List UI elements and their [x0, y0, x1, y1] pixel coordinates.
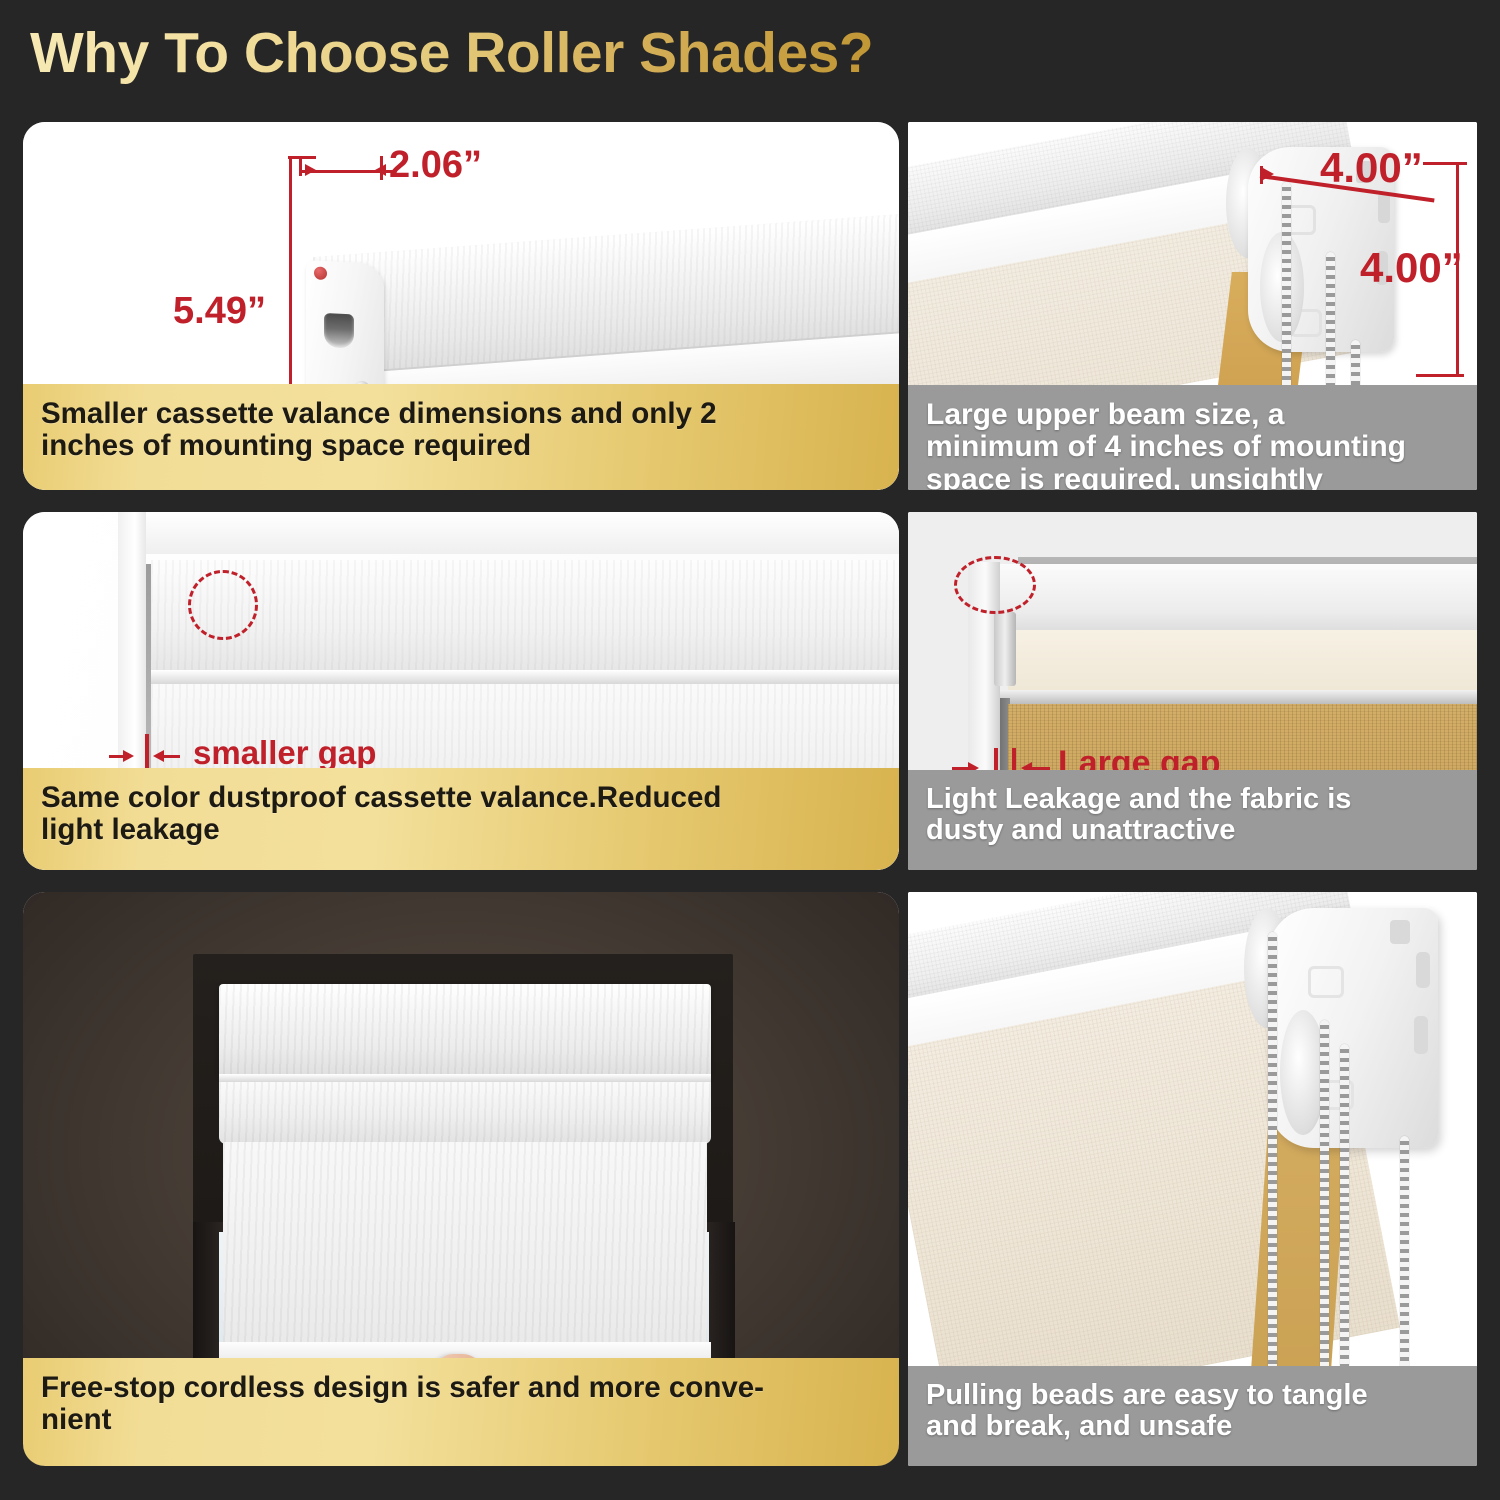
- caption-con-large-gap: Light Leakage and the fabric is dusty an…: [908, 770, 1477, 870]
- panel-pro-cassette-dimensions: 2.06” 5.49” Smaller cassette valance dim…: [23, 122, 899, 490]
- dim-arrow-right: [305, 164, 316, 176]
- dim-cap-bottom: [1416, 374, 1464, 377]
- highlight-circle: [188, 570, 258, 640]
- dim-tick-right-top: [380, 156, 383, 180]
- caption-con-large-upper-beam: Large upper beam size, a minimum of 4 in…: [908, 385, 1477, 490]
- caption-pro-cassette-dimensions: Smaller cassette valance dimensions and …: [23, 384, 899, 490]
- dim-cap-top: [1423, 162, 1467, 165]
- caption-con-pull-beads: Pulling beads are easy to tangle and bre…: [908, 1366, 1477, 1466]
- infographic-page: Why To Choose Roller Shades? 2.06”: [0, 0, 1500, 1500]
- highlight-circle: [954, 556, 1036, 614]
- dimension-label-height: 5.49”: [173, 290, 266, 333]
- panel-pro-smaller-gap: smaller gap Same color dustproof cassett…: [23, 512, 899, 870]
- panel-con-large-gap: Large gap Light Leakage and the fabric i…: [908, 512, 1477, 870]
- dimension-label-height: 4.00”: [1360, 244, 1463, 292]
- bead-chain: [1320, 1020, 1329, 1422]
- page-title: Why To Choose Roller Shades?: [30, 20, 873, 86]
- dim-cap-top: [288, 156, 316, 159]
- dim-arrow-right: [1263, 168, 1274, 180]
- caption-pro-cordless: Free-stop cordless design is safer and m…: [23, 1358, 899, 1466]
- gap-arrow-stem: [109, 755, 125, 758]
- panel-con-pull-beads: Pulling beads are easy to tangle and bre…: [908, 892, 1477, 1466]
- dimension-label-width: 2.06”: [389, 144, 482, 187]
- panel-con-large-upper-beam: 4.00” 4.00” Large upper beam size, a min…: [908, 122, 1477, 490]
- dim-tick-left-top: [299, 156, 302, 176]
- bead-chain: [1268, 932, 1277, 1422]
- gap-arrow-stem: [164, 755, 180, 758]
- panel-pro-cordless: Free-stop cordless design is safer and m…: [23, 892, 899, 1466]
- caption-pro-smaller-gap: Same color dustproof cassette valance.Re…: [23, 768, 899, 870]
- gap-arrow-left: [153, 750, 164, 762]
- gap-label-smaller: smaller gap: [193, 734, 376, 772]
- dimension-label-width: 4.00”: [1320, 144, 1423, 192]
